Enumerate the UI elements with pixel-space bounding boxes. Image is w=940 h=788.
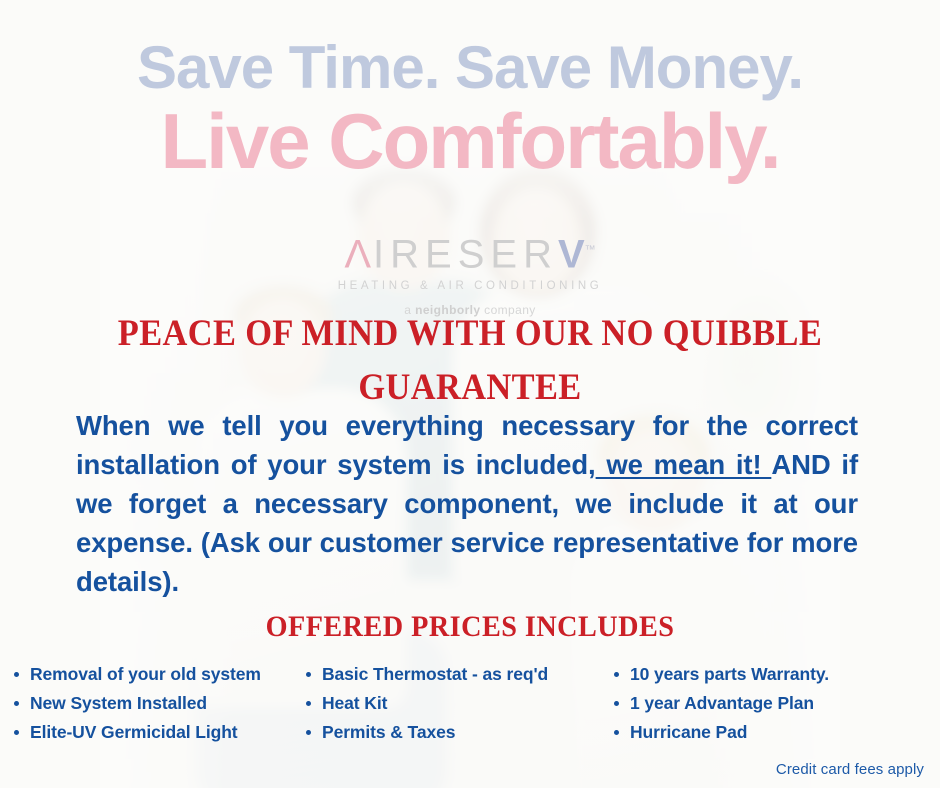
guarantee-headline: PEACE OF MIND WITH OUR NO QUIBBLE GUARAN… bbox=[98, 307, 842, 415]
bullet-icon bbox=[306, 672, 311, 677]
logo-wordmark: ΛIRESERV™ bbox=[344, 228, 595, 276]
bullet-icon bbox=[614, 672, 619, 677]
flyer-content: Save Time. Save Money. Live Comfortably.… bbox=[0, 0, 940, 788]
promotional-flyer: Save Time. Save Money. Live Comfortably.… bbox=[0, 0, 940, 788]
trademark-icon: ™ bbox=[585, 244, 596, 256]
bullet-icon bbox=[14, 672, 19, 677]
tagline-line-2: Live Comfortably. bbox=[0, 100, 940, 182]
list-item-label: Hurricane Pad bbox=[630, 718, 747, 747]
tagline-line-1: Save Time. Save Money. bbox=[0, 32, 940, 104]
offered-prices-heading: OFFERED PRICES INCLUDES bbox=[28, 608, 912, 646]
credit-card-fees-note: Credit card fees apply bbox=[776, 761, 924, 778]
list-item: New System Installed bbox=[14, 689, 300, 718]
bullet-icon bbox=[14, 730, 19, 735]
logo-wordmark-middle: IRESER bbox=[373, 232, 558, 276]
aire-serv-logo: ΛIRESERV™ HEATING & AIR CONDITIONING a n… bbox=[0, 228, 940, 317]
list-item: Basic Thermostat - as req'd bbox=[306, 660, 605, 689]
guarantee-body-copy: When we tell you everything necessary fo… bbox=[76, 406, 858, 601]
list-item: Hurricane Pad bbox=[614, 718, 940, 747]
included-list-1: Removal of your old system New System In… bbox=[14, 660, 300, 747]
bullet-icon bbox=[306, 730, 311, 735]
included-list-3: 10 years parts Warranty. 1 year Advantag… bbox=[614, 660, 940, 747]
tagline-block: Save Time. Save Money. Live Comfortably. bbox=[0, 32, 940, 182]
logo-chevron-a-icon: Λ bbox=[344, 232, 373, 276]
included-list-2: Basic Thermostat - as req'd Heat Kit Per… bbox=[306, 660, 605, 747]
list-item: Permits & Taxes bbox=[306, 718, 605, 747]
logo-subtitle: HEATING & AIR CONDITIONING bbox=[0, 280, 940, 292]
included-column-2: Basic Thermostat - as req'd Heat Kit Per… bbox=[300, 660, 605, 747]
list-item-label: Elite-UV Germicidal Light bbox=[30, 718, 238, 747]
bullet-icon bbox=[306, 701, 311, 706]
included-column-3: 10 years parts Warranty. 1 year Advantag… bbox=[605, 660, 940, 747]
list-item-label: 10 years parts Warranty. bbox=[630, 660, 829, 689]
list-item-label: Permits & Taxes bbox=[322, 718, 455, 747]
list-item: 1 year Advantage Plan bbox=[614, 689, 940, 718]
list-item: 10 years parts Warranty. bbox=[614, 660, 940, 689]
list-item-label: Removal of your old system bbox=[30, 660, 261, 689]
list-item: Elite-UV Germicidal Light bbox=[14, 718, 300, 747]
bullet-icon bbox=[614, 730, 619, 735]
body-emphasis: we mean it! bbox=[596, 449, 772, 480]
list-item-label: Basic Thermostat - as req'd bbox=[322, 660, 548, 689]
included-column-1: Removal of your old system New System In… bbox=[0, 660, 300, 747]
list-item: Removal of your old system bbox=[14, 660, 300, 689]
bullet-icon bbox=[14, 701, 19, 706]
included-items-columns: Removal of your old system New System In… bbox=[0, 660, 940, 747]
list-item-label: 1 year Advantage Plan bbox=[630, 689, 814, 718]
list-item: Heat Kit bbox=[306, 689, 605, 718]
list-item-label: New System Installed bbox=[30, 689, 207, 718]
bullet-icon bbox=[614, 701, 619, 706]
logo-letter-v: V bbox=[558, 232, 585, 276]
list-item-label: Heat Kit bbox=[322, 689, 387, 718]
